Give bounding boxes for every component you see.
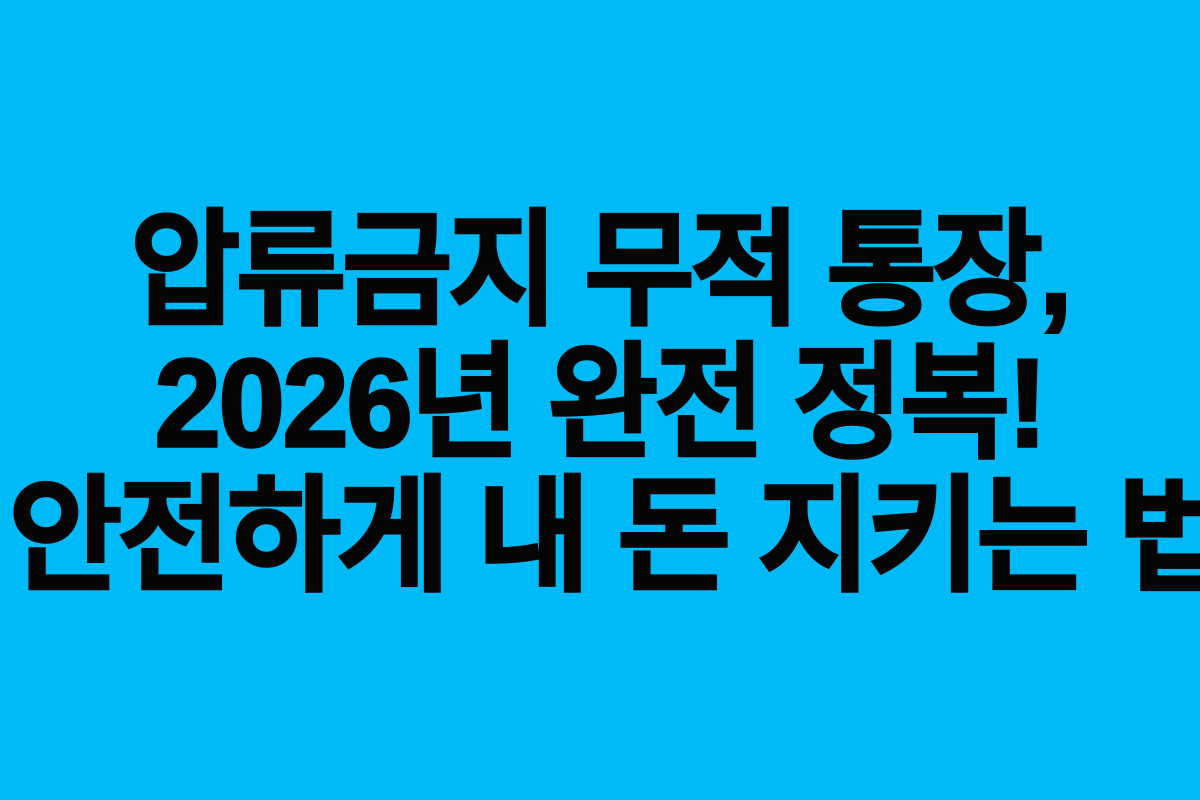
headline-line-3: 안전하게 내 돈 지키는 법 <box>9 471 1191 604</box>
thumbnail-canvas: 압류금지 무적 통장, 2026년 완전 정복! 안전하게 내 돈 지키는 법 <box>0 0 1200 800</box>
headline-line-1: 압류금지 무적 통장, <box>27 205 1173 338</box>
headline-block: 압류금지 무적 통장, 2026년 완전 정복! 안전하게 내 돈 지키는 법 <box>0 205 1200 604</box>
headline-line-2: 2026년 완전 정복! <box>27 338 1173 471</box>
